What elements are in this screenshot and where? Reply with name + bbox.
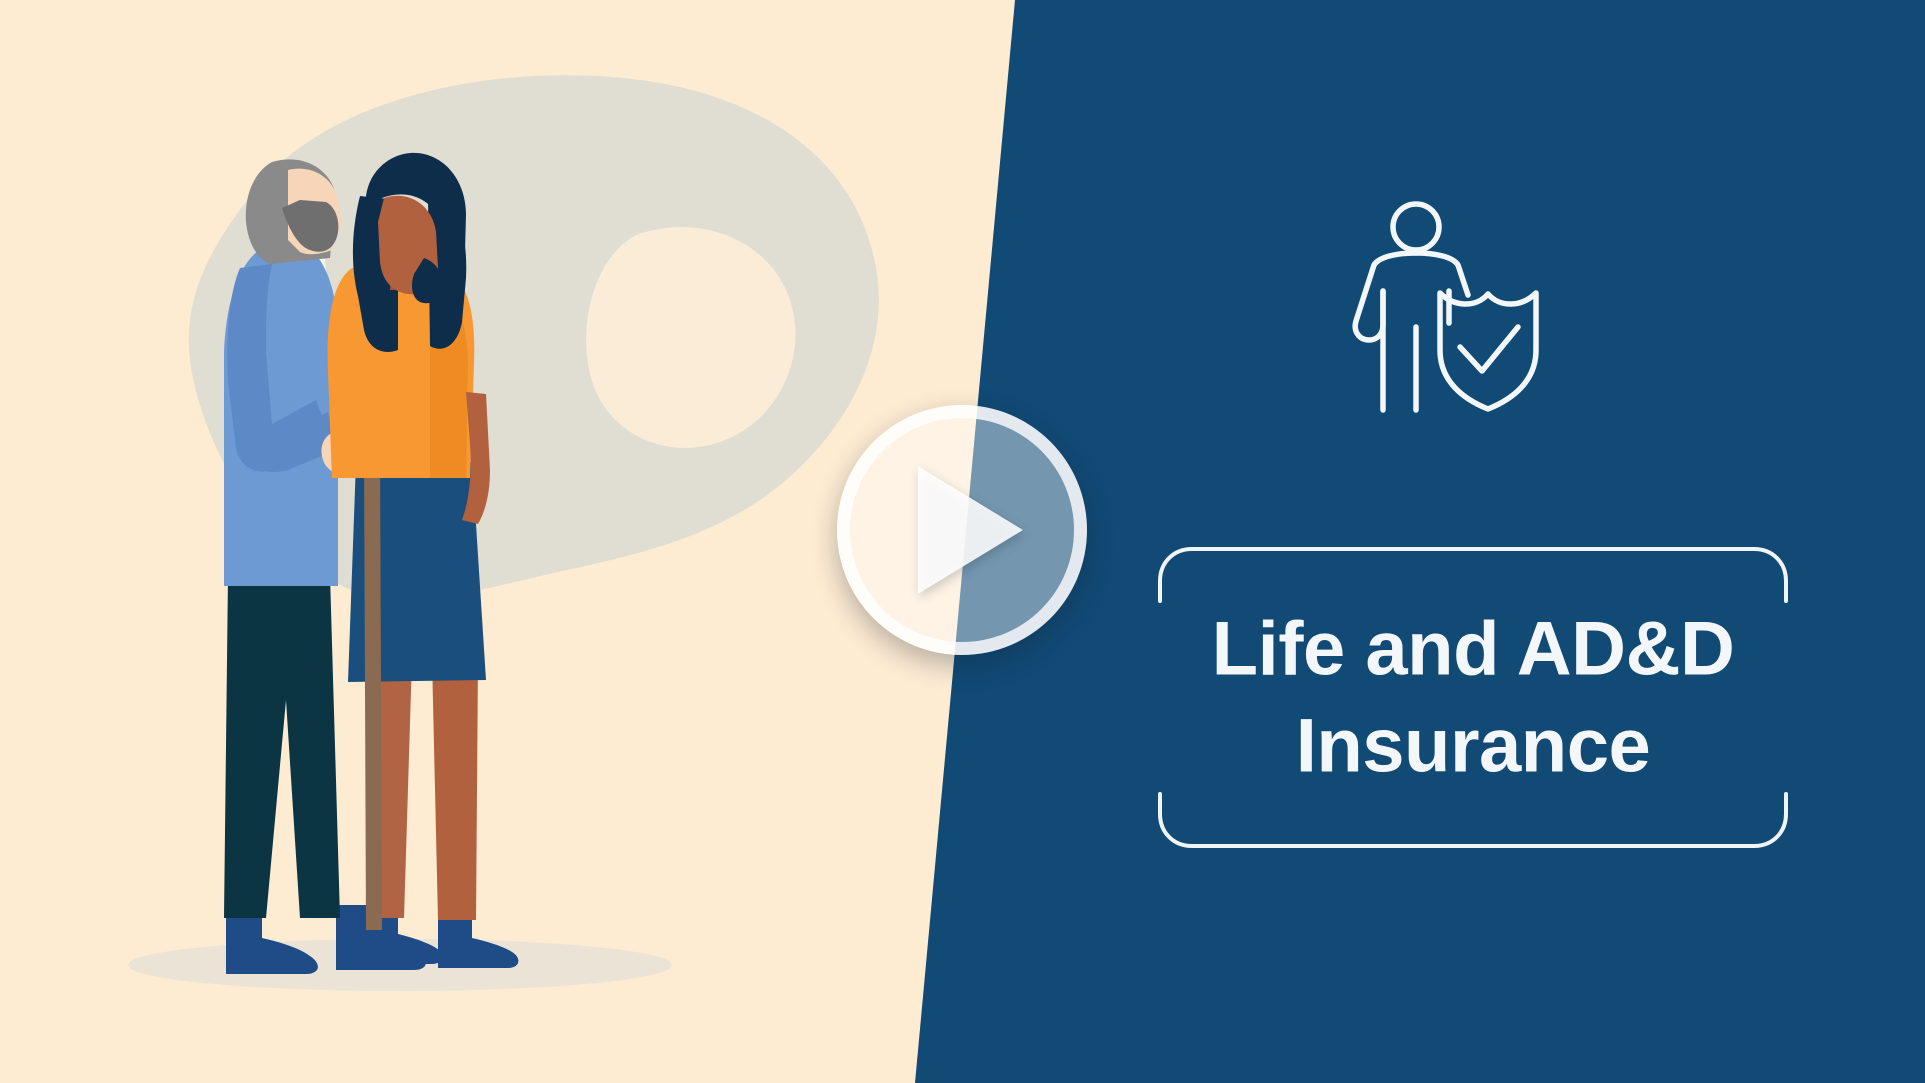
person-with-shield-svg [1348,195,1583,430]
play-button[interactable] [837,405,1087,655]
person-with-shield-icon [1348,195,1583,430]
title-line-1: Life and AD&D [1184,600,1762,697]
right-content-panel: Life and AD&D Insurance [1015,0,1925,1083]
woman-shoe-back [438,912,518,968]
play-triangle-icon [918,466,1023,594]
person-head-icon [1393,204,1439,250]
video-thumbnail-card[interactable]: Life and AD&D Insurance [0,0,1925,1083]
shield-checkmark-icon [1460,327,1518,371]
bracket-top-path [1160,549,1786,601]
shield-outline-icon [1440,293,1536,409]
bracket-bottom-path [1160,794,1786,846]
title-line-2: Insurance [1184,698,1762,795]
title-bracket-frame: Life and AD&D Insurance [1156,545,1790,850]
man-trousers [224,575,340,918]
woman-leg-back [432,658,478,920]
page-title: Life and AD&D Insurance [1156,600,1790,795]
person-right-shoulder-icon [1416,253,1468,295]
walking-cane [364,452,382,930]
